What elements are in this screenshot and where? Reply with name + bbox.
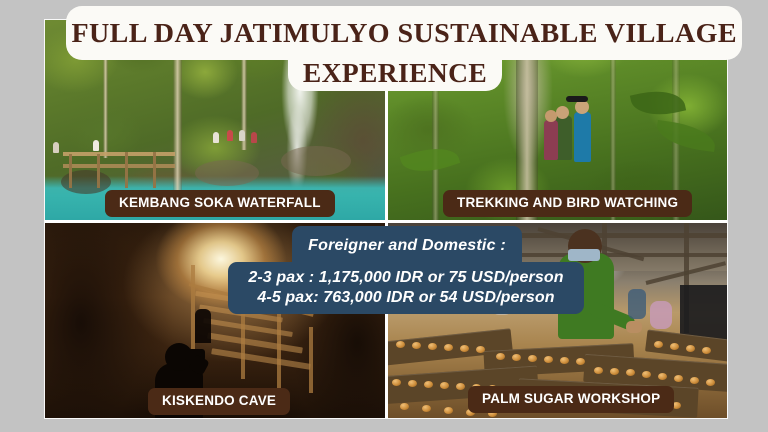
visitor <box>53 142 59 153</box>
bridge-post <box>125 152 128 188</box>
wooden-bridge <box>63 152 175 186</box>
leaf <box>400 140 461 180</box>
birdwatcher-head <box>575 100 589 114</box>
poster-title-box-second-line: EXPERIENCE <box>288 54 502 91</box>
birdwatcher-head <box>556 106 569 119</box>
leaf <box>655 120 718 152</box>
visitor <box>93 140 99 151</box>
caption-kembang-soka-waterfall: KEMBANG SOKA WATERFALL <box>105 190 335 217</box>
pricing-rows-box: 2-3 pax : 1,175,000 IDR or 75 USD/person… <box>228 262 584 314</box>
caption-trekking-bird-watching: TREKKING AND BIRD WATCHING <box>443 190 692 217</box>
visitor <box>213 132 219 143</box>
pricing-heading-box: Foreigner and Domestic : <box>292 226 522 266</box>
background-worker <box>628 289 646 319</box>
bridge-post <box>69 154 72 188</box>
visitor <box>251 132 257 143</box>
background-worker <box>650 301 672 329</box>
worker-hand <box>626 321 642 333</box>
binoculars <box>566 96 588 102</box>
bridge-post <box>153 152 156 188</box>
visitor <box>227 130 233 141</box>
worker-face-mask <box>568 249 600 261</box>
poster-canvas: FULL DAY JATIMULYO SUSTAINABLE VILLAGE E… <box>0 0 768 432</box>
birdwatcher-head <box>545 110 557 122</box>
rock <box>281 146 351 176</box>
tree-trunk <box>103 48 108 158</box>
cave-visitor-silhouette <box>195 309 211 343</box>
poster-title-box: FULL DAY JATIMULYO SUSTAINABLE VILLAGE <box>66 6 742 60</box>
pricing-row: 2-3 pax : 1,175,000 IDR or 75 USD/person <box>248 269 563 287</box>
birdwatcher <box>556 116 572 160</box>
cave-railing-post <box>277 307 281 389</box>
cave-railing-post <box>309 327 313 393</box>
caption-kiskendo-cave: KISKENDO CAVE <box>148 388 290 415</box>
pricing-row: 4-5 pax: 763,000 IDR or 54 USD/person <box>257 289 554 307</box>
bridge-post <box>97 154 100 188</box>
visitor <box>239 130 245 141</box>
poster-title-line-1: FULL DAY JATIMULYO SUSTAINABLE VILLAGE <box>71 19 737 47</box>
pricing-heading: Foreigner and Domestic : <box>308 238 506 254</box>
rock <box>195 160 259 186</box>
poster-title-line-2: EXPERIENCE <box>303 59 487 87</box>
birdwatcher <box>544 120 558 160</box>
caption-palm-sugar-workshop: PALM SUGAR WORKSHOP <box>468 386 674 413</box>
birdwatcher <box>574 112 591 162</box>
